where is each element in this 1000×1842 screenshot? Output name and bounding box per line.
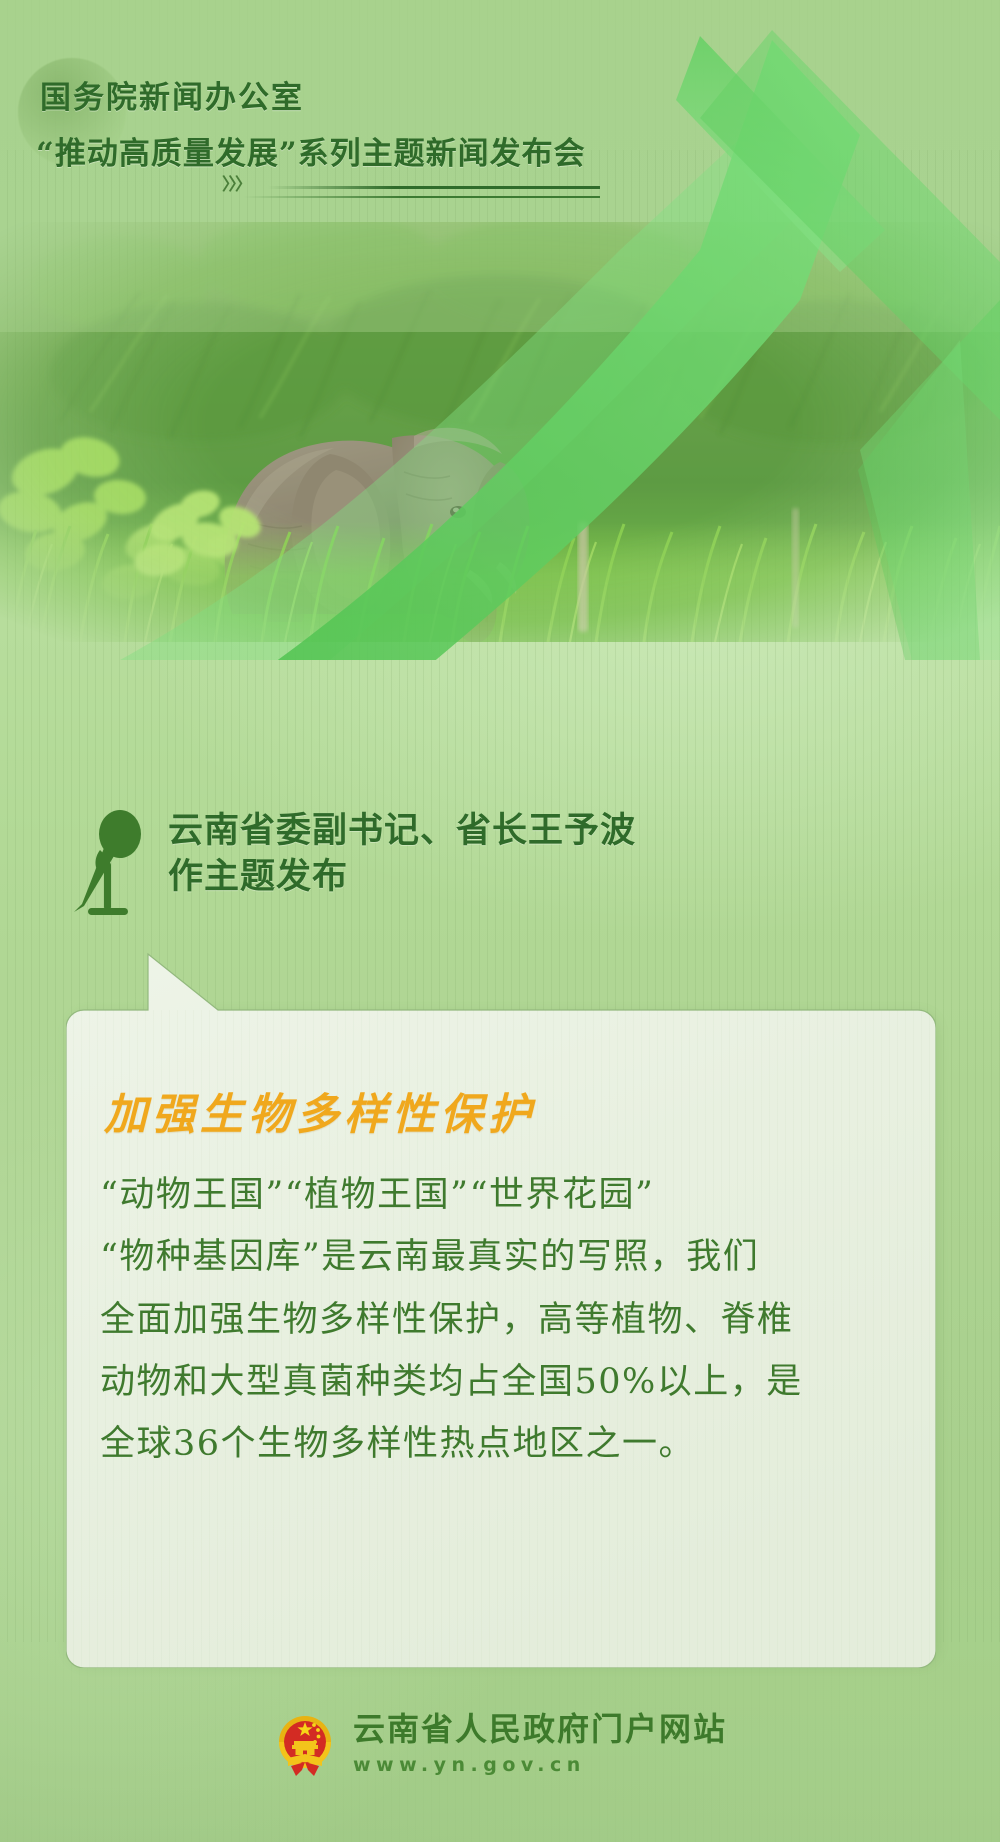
speaker-block: 云南省委副书记、省长王予波 作主题发布 bbox=[70, 808, 636, 920]
footer-site-name: 云南省人民政府门户网站 bbox=[353, 1712, 727, 1747]
speaker-title: 云南省委副书记、省长王予波 作主题发布 bbox=[168, 808, 636, 900]
hero-photo-elephant bbox=[0, 222, 1000, 642]
card-line: 动物和大型真菌种类均占全国50%以上，是 bbox=[100, 1351, 900, 1413]
header-rule-bottom bbox=[244, 196, 600, 198]
chevrons-icon: 〉〉〉 bbox=[222, 170, 250, 195]
microphone-icon bbox=[70, 810, 146, 920]
header-rule-top bbox=[268, 186, 600, 189]
card-line: 全面加强生物多样性保护，高等植物、脊椎 bbox=[100, 1289, 900, 1351]
footer-url: www.yn.gov.cn bbox=[353, 1751, 727, 1780]
card-line: “物种基因库”是云南最真实的写照，我们 bbox=[100, 1226, 900, 1288]
header-line-2: “推动高质量发展”系列主题新闻发布会 bbox=[36, 128, 586, 173]
footer: 云南省人民政府门户网站 www.yn.gov.cn bbox=[0, 1712, 1000, 1780]
card-paragraphs: “动物王国”“植物王国”“世界花园” “物种基因库”是云南最真实的写照，我们 全… bbox=[100, 1164, 900, 1475]
speaker-title-line-2: 作主题发布 bbox=[168, 854, 636, 900]
poster-root: 国务院新闻办公室 “推动高质量发展”系列主题新闻发布会 〉〉〉 云南省委副书记、… bbox=[0, 0, 1000, 1842]
card-content: 加强生物多样性保护 “动物王国”“植物王国”“世界花园” “物种基因库”是云南最… bbox=[66, 952, 936, 1668]
speaker-title-line-1: 云南省委副书记、省长王予波 bbox=[168, 808, 636, 854]
card-line: 全球36个生物多样性热点地区之一。 bbox=[100, 1413, 900, 1475]
quote-card: 加强生物多样性保护 “动物王国”“植物王国”“世界花园” “物种基因库”是云南最… bbox=[66, 952, 936, 1668]
footer-text: 云南省人民政府门户网站 www.yn.gov.cn bbox=[353, 1712, 727, 1780]
card-line: “动物王国”“植物王国”“世界花园” bbox=[100, 1164, 900, 1226]
header-line-1: 国务院新闻办公室 bbox=[40, 72, 304, 117]
china-national-emblem-icon bbox=[273, 1712, 337, 1780]
card-headline: 加强生物多样性保护 bbox=[104, 1080, 536, 1142]
